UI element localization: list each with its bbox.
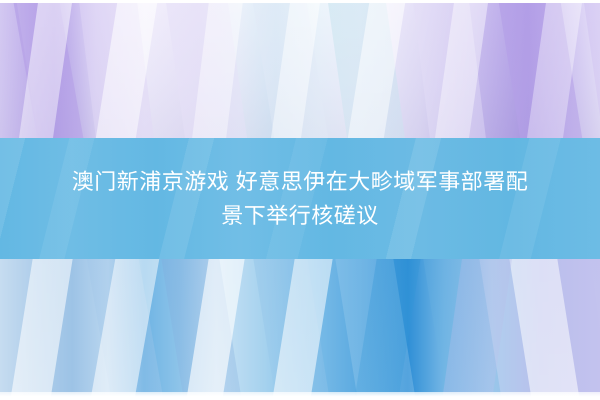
promotional-banner: 澳门新浦京游戏 好意思伊在大畛域军事部署配 景下举行核磋议 xyxy=(0,0,600,400)
top-background-wash xyxy=(0,0,600,140)
bottom-background-wash xyxy=(0,258,600,400)
top-white-edge xyxy=(0,0,600,3)
banner-title-line-1: 澳门新浦京游戏 好意思伊在大畛域军事部署配 xyxy=(20,165,580,199)
banner-title: 澳门新浦京游戏 好意思伊在大畛域军事部署配 景下举行核磋议 xyxy=(20,165,580,233)
title-band: 澳门新浦京游戏 好意思伊在大畛域军事部署配 景下举行核磋议 xyxy=(0,138,600,259)
bottom-white-edge xyxy=(0,392,600,400)
banner-title-line-2: 景下举行核磋议 xyxy=(20,199,580,233)
